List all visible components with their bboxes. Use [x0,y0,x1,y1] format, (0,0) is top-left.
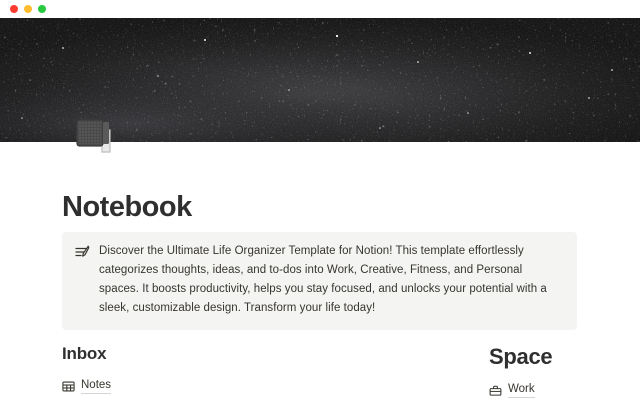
zoom-button[interactable] [38,5,46,13]
callout-text: Discover the Ultimate Life Organizer Tem… [99,242,563,318]
edit-lines-icon [74,244,90,260]
edit-lines-icon-glyph [74,244,90,260]
window-titlebar [0,0,640,18]
list-item-work[interactable]: Work [489,382,639,398]
database-table-icon-glyph [62,380,75,393]
list-item-label: Notes [81,378,111,394]
briefcase-icon-glyph [489,384,502,397]
inbox-heading: Inbox [62,343,302,365]
list-item-label: Work [508,382,535,398]
column-space: Space Work [489,343,639,398]
column-inbox: Inbox Notes [62,343,302,394]
minimize-button[interactable] [24,5,32,13]
window-controls [10,5,46,13]
page-title[interactable]: Notebook [62,189,192,225]
notebook-icon [70,116,118,160]
briefcase-icon [489,384,502,397]
list-item-notes[interactable]: Notes [62,378,302,394]
close-button[interactable] [10,5,18,13]
page-icon[interactable] [70,116,118,160]
callout-block[interactable]: Discover the Ultimate Life Organizer Tem… [62,232,577,330]
database-table-icon [62,380,75,393]
space-heading: Space [489,343,639,371]
